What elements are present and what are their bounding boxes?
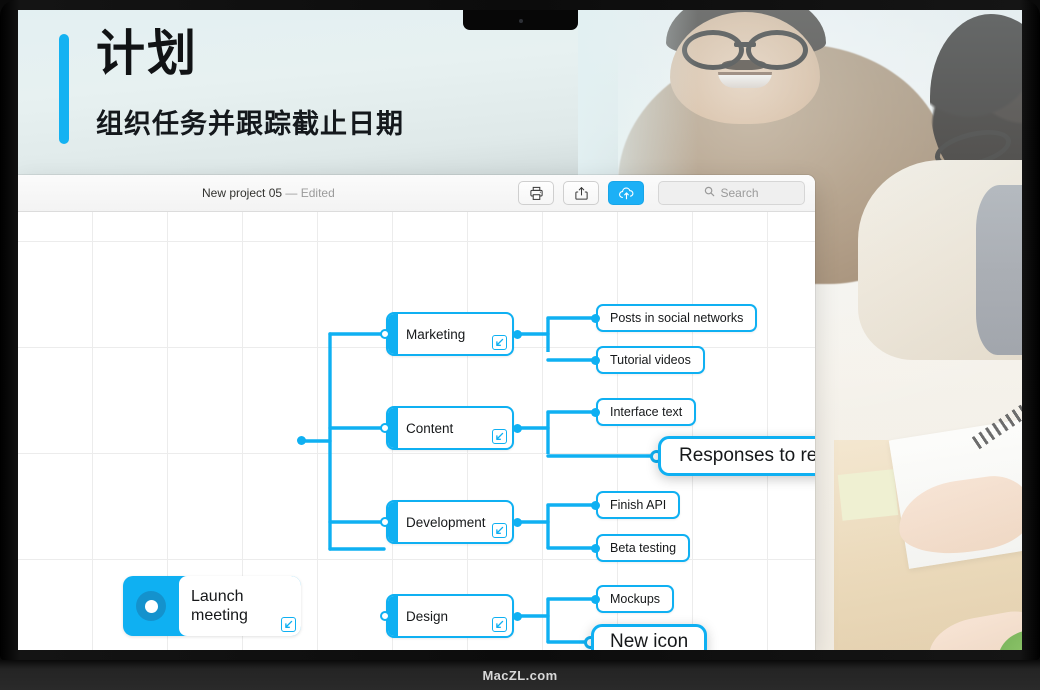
camera-icon	[519, 19, 523, 23]
print-button[interactable]	[518, 181, 554, 205]
node-out-dot	[513, 330, 522, 339]
node-label: New icon	[610, 631, 688, 650]
node-in-dot	[380, 329, 390, 339]
node-in-dot	[380, 517, 390, 527]
node-label: Marketing	[406, 327, 465, 342]
share-button[interactable]	[563, 181, 599, 205]
node-out-dot	[513, 612, 522, 621]
root-label-line1: Launch	[191, 587, 248, 606]
root-label-line2: meeting	[191, 606, 248, 625]
app-titlebar: New project 05 — Edited	[18, 175, 815, 212]
mindmap-node-development[interactable]: Development	[386, 500, 514, 544]
node-label: Mockups	[610, 592, 660, 606]
donut-icon	[136, 591, 166, 621]
root-node-body: Launch meeting	[179, 576, 301, 636]
leaf-dot	[591, 595, 600, 604]
document-separator: —	[285, 186, 297, 200]
mindmap-node-posts-in-social-networks[interactable]: Posts in social networks	[596, 304, 757, 332]
document-title: New project 05 — Edited	[202, 186, 335, 200]
mindmap-node-mockups[interactable]: Mockups	[596, 585, 674, 613]
node-label: Tutorial videos	[610, 353, 691, 367]
node-in-dot	[380, 611, 390, 621]
header-banner-fade	[578, 10, 698, 178]
node-label: Development	[406, 515, 486, 530]
mindmap-node-beta-testing[interactable]: Beta testing	[596, 534, 690, 562]
footer-bar: MacZL.com	[0, 660, 1040, 690]
search-input[interactable]: Search	[658, 181, 805, 205]
screenshot-root: 计划 组织任务并跟踪截止日期 New project 05 — Edited	[0, 0, 1040, 690]
laptop-notch	[463, 10, 578, 30]
node-label: Responses to reviews	[679, 445, 815, 467]
mindmap: Launch meeting	[18, 212, 815, 650]
node-label: Interface text	[610, 405, 682, 419]
collapse-arrow-icon[interactable]	[492, 523, 507, 538]
cloud-upload-button[interactable]	[608, 181, 644, 205]
root-node-label: Launch meeting	[191, 587, 248, 625]
node-label: Posts in social networks	[610, 311, 743, 325]
leaf-dot	[591, 544, 600, 553]
node-label: Content	[406, 421, 453, 436]
toolbar-buttons	[518, 181, 644, 205]
node-in-dot	[380, 423, 390, 433]
document-name: New project 05	[202, 186, 282, 200]
collapse-arrow-icon[interactable]	[281, 617, 296, 632]
share-icon	[574, 186, 589, 201]
print-icon	[529, 186, 544, 201]
mindmap-node-design[interactable]: Design	[386, 594, 514, 638]
document-status: Edited	[301, 186, 335, 200]
mindmap-node-new-icon[interactable]: New icon	[591, 624, 707, 650]
accent-bar	[59, 34, 69, 144]
search-placeholder: Search	[720, 186, 758, 200]
node-label: Finish API	[610, 498, 666, 512]
leaf-dot	[591, 408, 600, 417]
cloud-upload-icon	[618, 186, 635, 201]
root-connector-dot	[297, 436, 306, 445]
mindmap-node-responses-to-reviews[interactable]: Responses to reviews	[658, 436, 815, 476]
root-badge	[123, 576, 179, 636]
node-out-dot	[513, 424, 522, 433]
mindmap-node-finish-api[interactable]: Finish API	[596, 491, 680, 519]
mindmap-node-marketing[interactable]: Marketing	[386, 312, 514, 356]
mindmap-node-interface-text[interactable]: Interface text	[596, 398, 696, 426]
node-label: Beta testing	[610, 541, 676, 555]
node-label: Design	[406, 609, 448, 624]
collapse-arrow-icon[interactable]	[492, 429, 507, 444]
leaf-dot	[591, 356, 600, 365]
laptop-frame: 计划 组织任务并跟踪截止日期 New project 05 — Edited	[0, 0, 1040, 660]
page-subtitle: 组织任务并跟踪截止日期	[96, 102, 404, 141]
collapse-arrow-icon[interactable]	[492, 335, 507, 350]
mindmap-node-content[interactable]: Content	[386, 406, 514, 450]
leaf-dot	[591, 501, 600, 510]
collapse-arrow-icon[interactable]	[492, 617, 507, 632]
mindmap-canvas[interactable]: Launch meeting	[18, 212, 815, 650]
watermark-label: MacZL.com	[482, 668, 557, 683]
leaf-dot	[591, 314, 600, 323]
mindmap-node-tutorial-videos[interactable]: Tutorial videos	[596, 346, 705, 374]
mindmap-node-root[interactable]: Launch meeting	[123, 576, 301, 636]
node-out-dot	[513, 518, 522, 527]
page-title: 计划	[96, 28, 198, 82]
search-icon	[704, 184, 715, 202]
laptop-screen: 计划 组织任务并跟踪截止日期 New project 05 — Edited	[18, 10, 1022, 650]
app-window: New project 05 — Edited	[18, 175, 815, 650]
